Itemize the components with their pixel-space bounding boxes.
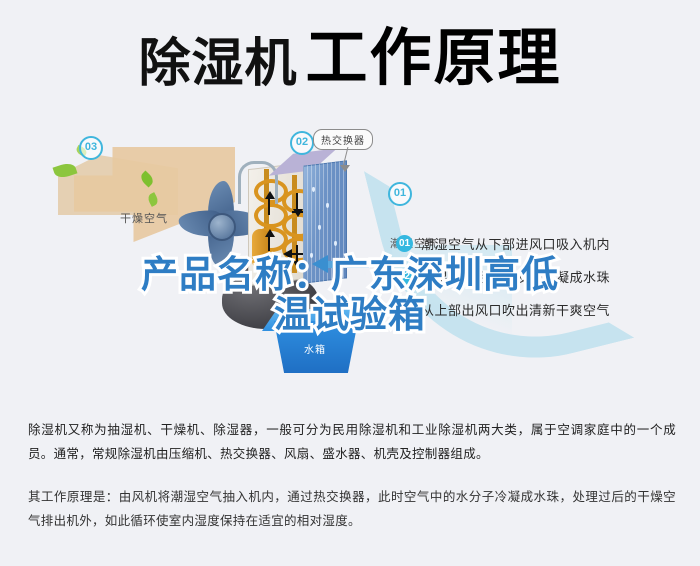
step-text: 潮湿空气经过蒸发器冷凝成水珠 [421, 267, 610, 286]
step-list: 01 潮湿空气从下部进风口吸入机内 02 潮湿空气经过蒸发器冷凝成水珠 03 从… [396, 234, 696, 333]
paragraph-2: 其工作原理是：由风机将潮湿空气抽入机内，通过热交换器，此时空气中的水分子冷凝成水… [28, 485, 676, 534]
heat-exchanger-callout: 热交换器 [313, 129, 373, 150]
diagram-badge-03: 03 [79, 136, 103, 160]
flow-arrow-stem [296, 193, 298, 209]
flow-arrow-down-icon [293, 261, 303, 269]
step-badge: 01 [396, 235, 413, 252]
water-droplet [312, 187, 315, 192]
fan-hub [208, 213, 236, 241]
paragraph-1: 除湿机又称为抽湿机、干燥机、除湿器，一般可分为民用除湿机和工业除湿机两大类，属于… [28, 418, 676, 467]
infographic-page: 除湿机工作原理 干燥空气 [0, 0, 700, 566]
water-tank: 水箱 [262, 307, 370, 379]
water-droplet [334, 241, 337, 246]
step-badge: 02 [396, 268, 413, 285]
step-text: 潮湿空气从下部进风口吸入机内 [421, 234, 610, 253]
page-title-primary: 除湿机 [138, 35, 297, 93]
inflow-arrow-stem [327, 261, 369, 268]
diagram-badge-02: 02 [290, 131, 314, 155]
step-text: 从上部出风口吹出清新干爽空气 [421, 300, 610, 319]
step-badge: 03 [396, 301, 413, 318]
page-title: 除湿机工作原理 [0, 28, 700, 90]
refrigerant-coil [252, 169, 310, 281]
list-item: 01 潮湿空气从下部进风口吸入机内 [396, 234, 696, 253]
callout-tip-icon [340, 165, 350, 172]
flow-arrow-up-icon [265, 229, 275, 237]
water-droplet [326, 203, 329, 208]
list-item: 03 从上部出风口吹出清新干爽空气 [396, 300, 696, 319]
inflow-arrow-icon [312, 255, 328, 273]
flow-arrow-left-icon [283, 249, 292, 259]
flow-arrow-stem [268, 235, 270, 251]
diagram-badge-01: 01 [388, 182, 412, 206]
flow-arrow-stem [268, 197, 270, 215]
water-tank-label: 水箱 [304, 341, 326, 356]
dry-air-label: 干燥空气 [120, 210, 168, 226]
list-item: 02 潮湿空气经过蒸发器冷凝成水珠 [396, 267, 696, 286]
page-title-secondary: 工作原理 [306, 24, 562, 93]
flow-arrow-up-icon [265, 191, 275, 199]
body-copy: 除湿机又称为抽湿机、干燥机、除湿器，一般可分为民用除湿机和工业除湿机两大类，属于… [28, 418, 676, 552]
water-droplet [318, 225, 321, 230]
